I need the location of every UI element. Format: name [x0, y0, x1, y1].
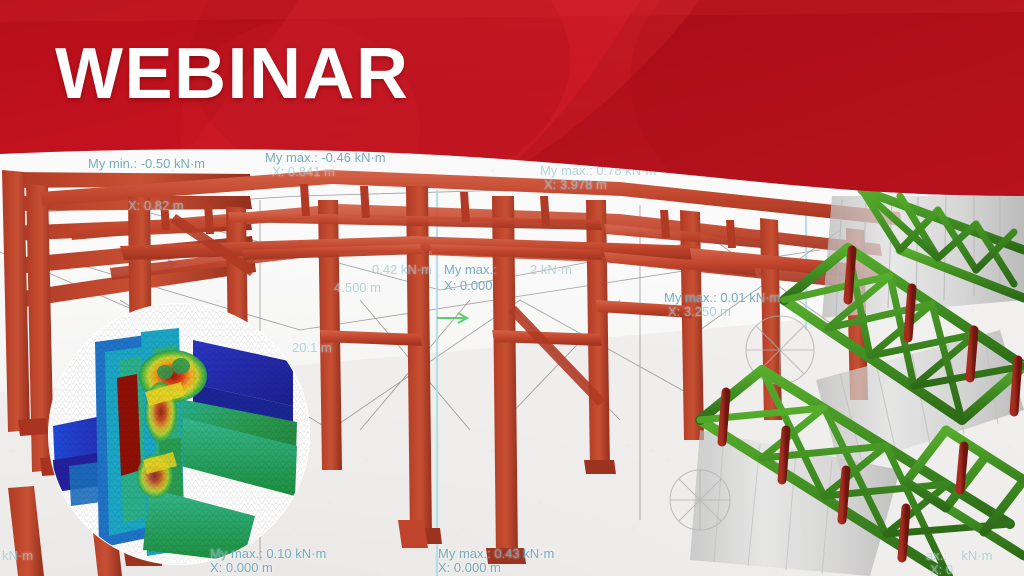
webinar-banner-image: My min.: -0.50 kN·mX: 0.82 mMy max.: -0.…	[0, 0, 1024, 576]
red-header-banner: WEBINAR	[0, 0, 1024, 230]
fea-stress-plot	[45, 300, 313, 568]
webinar-icon-vector	[800, 22, 1024, 252]
fea-connection-inset	[45, 300, 313, 568]
page-title: WEBINAR	[55, 38, 409, 110]
webinar-laptop-icon	[800, 22, 980, 162]
